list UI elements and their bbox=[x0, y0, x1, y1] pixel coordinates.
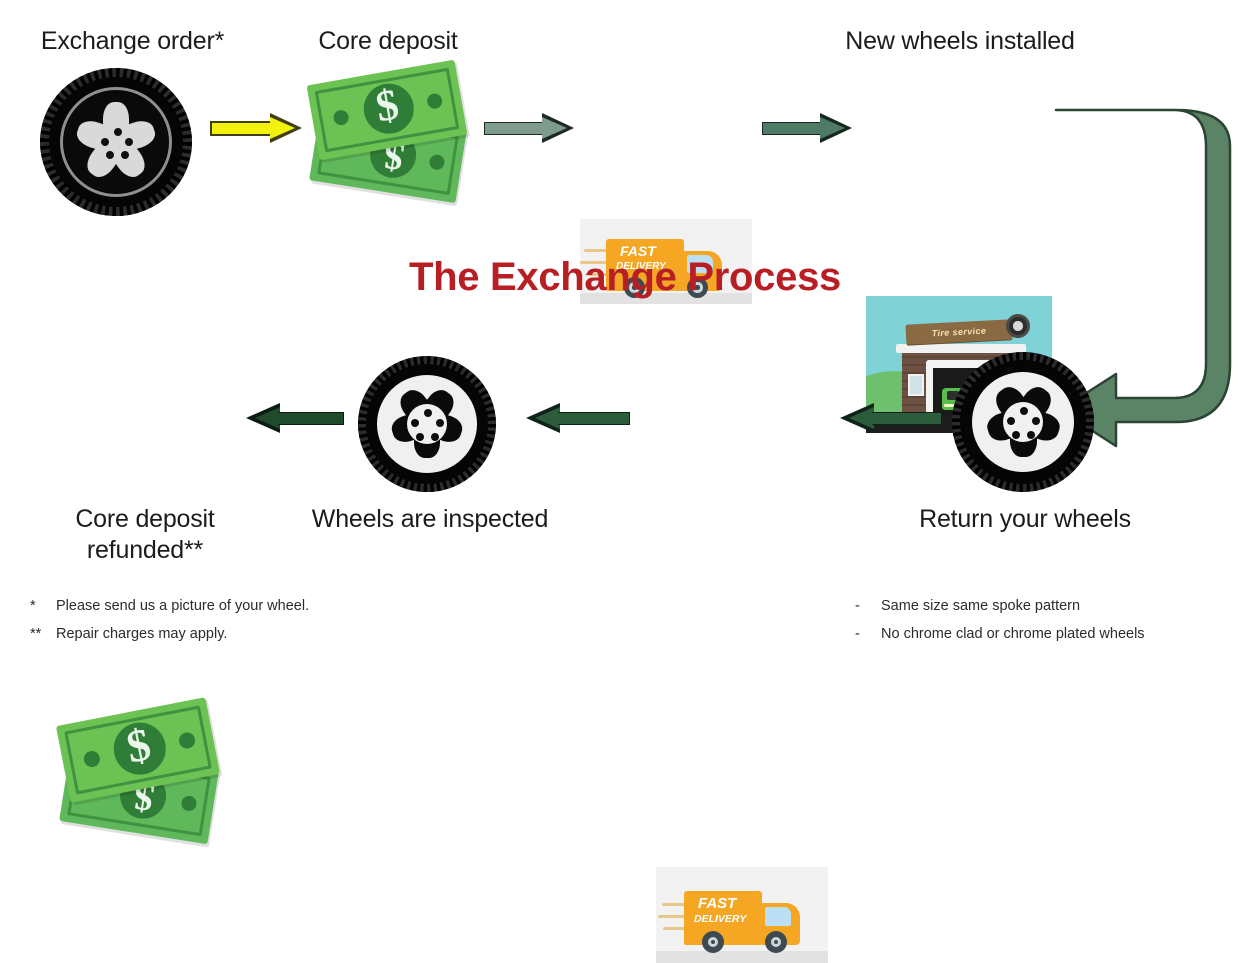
footnote-row: * Please send us a picture of your wheel… bbox=[30, 593, 510, 621]
label-new-wheels-installed: New wheels installed bbox=[800, 26, 1120, 57]
arrow-deposit-to-shipping bbox=[484, 113, 576, 143]
footnote-row: - No chrome clad or chrome plated wheels bbox=[855, 621, 1245, 649]
lug-nut bbox=[1032, 417, 1040, 425]
truck-label-fast: FAST bbox=[698, 896, 736, 913]
lug-nut bbox=[411, 419, 419, 427]
label-core-deposit: Core deposit bbox=[278, 26, 498, 57]
label-core-deposit-refunded: Core deposit refunded** bbox=[30, 504, 260, 565]
truck-ground bbox=[656, 951, 828, 963]
footnote-marker: ** bbox=[30, 621, 56, 649]
footnote-text: Repair charges may apply. bbox=[56, 621, 227, 649]
arrow-shipping-to-install bbox=[762, 113, 854, 143]
fast-delivery-truck-icon: FAST DELIVERY bbox=[656, 867, 828, 963]
lug-nut bbox=[1020, 407, 1028, 415]
footnote-text: Please send us a picture of your wheel. bbox=[56, 593, 309, 621]
label-exchange-order: Exchange order* bbox=[10, 26, 255, 57]
tire-service-sign-text: Tire service bbox=[906, 319, 1013, 345]
arrow-shipping-to-inspect bbox=[526, 403, 632, 433]
truck-wheel bbox=[702, 931, 724, 953]
truck-wheel bbox=[765, 931, 787, 953]
lug-nut bbox=[121, 151, 129, 159]
lug-nut bbox=[114, 128, 122, 136]
footnotes-right: - Same size same spoke pattern - No chro… bbox=[855, 593, 1245, 648]
footnote-text: No chrome clad or chrome plated wheels bbox=[881, 621, 1145, 649]
arrow-return-to-shipping bbox=[840, 403, 944, 433]
cash-money-icon: $ $ bbox=[60, 709, 230, 847]
silver-wheel-icon bbox=[358, 356, 496, 492]
footnotes-left: * Please send us a picture of your wheel… bbox=[30, 593, 510, 648]
lug-nut bbox=[436, 419, 444, 427]
exchange-process-diagram: Exchange order* Core deposit New wheels … bbox=[0, 0, 1250, 666]
cash-money-icon: $ $ bbox=[310, 70, 475, 205]
black-wheel-icon bbox=[40, 68, 192, 216]
truck-label-delivery: DELIVERY bbox=[694, 914, 746, 926]
footnote-marker: - bbox=[855, 621, 881, 649]
arrow-order-to-deposit bbox=[210, 113, 302, 143]
silver-wheel-icon bbox=[952, 352, 1094, 492]
shop-sign-tire bbox=[1006, 314, 1030, 338]
lug-nut bbox=[106, 151, 114, 159]
label-wheels-are-inspected: Wheels are inspected bbox=[290, 504, 570, 535]
lug-nut bbox=[424, 409, 432, 417]
footnote-row: - Same size same spoke pattern bbox=[855, 593, 1245, 621]
lug-nut bbox=[1027, 431, 1035, 439]
footnote-text: Same size same spoke pattern bbox=[881, 593, 1080, 621]
page-title: The Exchange Process bbox=[0, 255, 1250, 300]
lug-nut bbox=[431, 433, 439, 441]
lug-nut bbox=[125, 138, 133, 146]
lug-nut bbox=[416, 433, 424, 441]
footnote-marker: * bbox=[30, 593, 56, 621]
lug-nut bbox=[1007, 417, 1015, 425]
lug-nut bbox=[101, 138, 109, 146]
tire-service-sign: Tire service bbox=[906, 319, 1013, 345]
footnote-marker: - bbox=[855, 593, 881, 621]
arrow-inspect-to-refund bbox=[246, 403, 346, 433]
footnote-row: ** Repair charges may apply. bbox=[30, 621, 510, 649]
truck-window bbox=[765, 907, 791, 926]
shop-window bbox=[908, 374, 924, 396]
lug-nut bbox=[1012, 431, 1020, 439]
label-return-your-wheels: Return your wheels bbox=[895, 504, 1155, 535]
